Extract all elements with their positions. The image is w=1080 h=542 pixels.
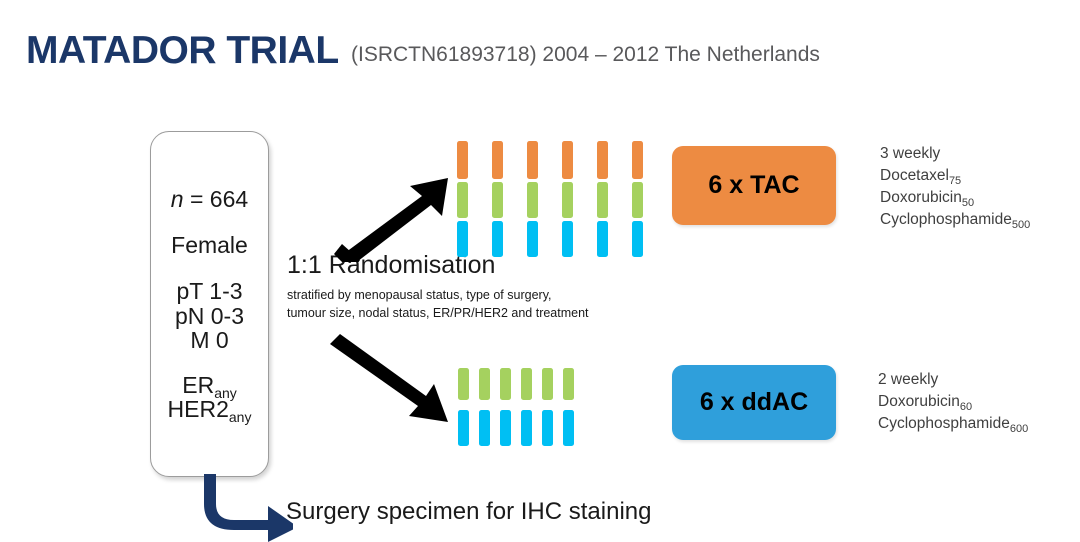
cycle-bar	[542, 410, 553, 446]
criteria-n-symbol: n	[171, 186, 184, 212]
tac-bar-row-docetaxel	[457, 141, 643, 179]
drug-dose: 50	[962, 197, 974, 209]
cycle-bar	[563, 410, 574, 446]
regimen-drug-line: Doxorubicin60	[878, 391, 1028, 413]
criteria-her2-subscript: any	[229, 409, 252, 425]
slide-canvas: MATADOR TRIAL (ISRCTN61893718) 2004 – 20…	[0, 0, 1080, 542]
cycle-bar	[597, 141, 608, 179]
drug-name: Cyclophosphamide	[880, 211, 1012, 228]
cycle-bar	[521, 410, 532, 446]
cycle-bar	[562, 141, 573, 179]
drug-dose: 600	[1010, 423, 1028, 435]
arm-label-tac: 6 x TAC	[672, 146, 836, 225]
criteria-pt-stage: pT 1-3	[176, 279, 242, 303]
randomisation-arrow-down-icon	[330, 330, 460, 425]
drug-dose: 60	[960, 401, 972, 413]
regimen-details-ddac: 2 weekly Doxorubicin60 Cyclophosphamide6…	[878, 369, 1028, 435]
trial-subtitle: (ISRCTN61893718) 2004 – 2012 The Netherl…	[351, 44, 820, 65]
eligibility-criteria-box: n = 664 Female pT 1-3 pN 0-3 M 0 ERany H…	[150, 131, 269, 477]
arm-label-ddac: 6 x ddAC	[672, 365, 836, 440]
regimen-schedule-ddac: 2 weekly	[878, 369, 1028, 391]
criteria-er-subscript: any	[214, 385, 237, 401]
cycle-bar	[632, 221, 643, 257]
criteria-her2-status: HER2any	[168, 397, 252, 421]
drug-name: Doxorubicin	[880, 189, 962, 206]
cycle-bar	[562, 221, 573, 257]
cycle-bar	[632, 141, 643, 179]
page-title: MATADOR TRIAL	[26, 31, 339, 70]
drug-dose: 75	[949, 175, 961, 187]
cycle-bar	[527, 141, 538, 179]
cycle-bar	[597, 182, 608, 218]
cycle-bar	[492, 221, 503, 257]
ddac-bar-row-doxorubicin	[458, 368, 574, 400]
cycle-bar	[527, 221, 538, 257]
drug-name: Docetaxel	[880, 167, 949, 184]
cycle-bar	[457, 182, 468, 218]
cycle-bar	[562, 182, 573, 218]
cycle-bar	[527, 182, 538, 218]
cycle-bar	[597, 221, 608, 257]
criteria-er-status: ERany	[182, 373, 237, 397]
regimen-schedule-tac: 3 weekly	[880, 143, 1030, 165]
cycle-bar	[500, 368, 511, 400]
cycle-bar	[492, 182, 503, 218]
regimen-drug-line: Docetaxel75	[880, 165, 1030, 187]
randomisation-arrow-up-icon	[330, 172, 455, 262]
cycle-bar	[500, 410, 511, 446]
ihc-staining-caption: Surgery specimen for IHC staining	[286, 500, 651, 524]
drug-dose: 500	[1012, 219, 1030, 231]
criteria-list: n = 664 Female pT 1-3 pN 0-3 M 0 ERany H…	[151, 132, 268, 476]
cycle-bar	[457, 221, 468, 257]
cycle-bar	[542, 368, 553, 400]
criteria-sex: Female	[171, 233, 248, 257]
regimen-drug-line: Cyclophosphamide600	[878, 413, 1028, 435]
cycle-bar	[563, 368, 574, 400]
cycle-bar	[632, 182, 643, 218]
cycle-bar	[492, 141, 503, 179]
ihc-elbow-arrow-icon	[198, 474, 293, 542]
tac-bar-row-doxorubicin	[457, 182, 643, 218]
criteria-er-label: ER	[182, 372, 214, 398]
cycle-bar	[458, 410, 469, 446]
criteria-pn-stage: pN 0-3	[175, 304, 244, 328]
cycle-bar	[479, 410, 490, 446]
cycle-bar	[521, 368, 532, 400]
regimen-drug-line: Cyclophosphamide500	[880, 209, 1030, 231]
criteria-m-stage: M 0	[190, 328, 228, 352]
cycle-bar	[458, 368, 469, 400]
regimen-drug-line: Doxorubicin50	[880, 187, 1030, 209]
criteria-sample-size: n = 664	[171, 187, 248, 211]
randomisation-stratification: stratified by menopausal status, type of…	[287, 286, 589, 322]
cycle-bar	[479, 368, 490, 400]
criteria-n-value: = 664	[184, 186, 249, 212]
ddac-bar-row-cyclophosphamide	[458, 410, 574, 446]
cycle-bar	[457, 141, 468, 179]
tac-bar-row-cyclophosphamide	[457, 221, 643, 257]
drug-name: Doxorubicin	[878, 393, 960, 410]
regimen-details-tac: 3 weekly Docetaxel75 Doxorubicin50 Cyclo…	[880, 143, 1030, 231]
stratification-line-1: stratified by menopausal status, type of…	[287, 286, 589, 304]
stratification-line-2: tumour size, nodal status, ER/PR/HER2 an…	[287, 304, 589, 322]
drug-name: Cyclophosphamide	[878, 415, 1010, 432]
